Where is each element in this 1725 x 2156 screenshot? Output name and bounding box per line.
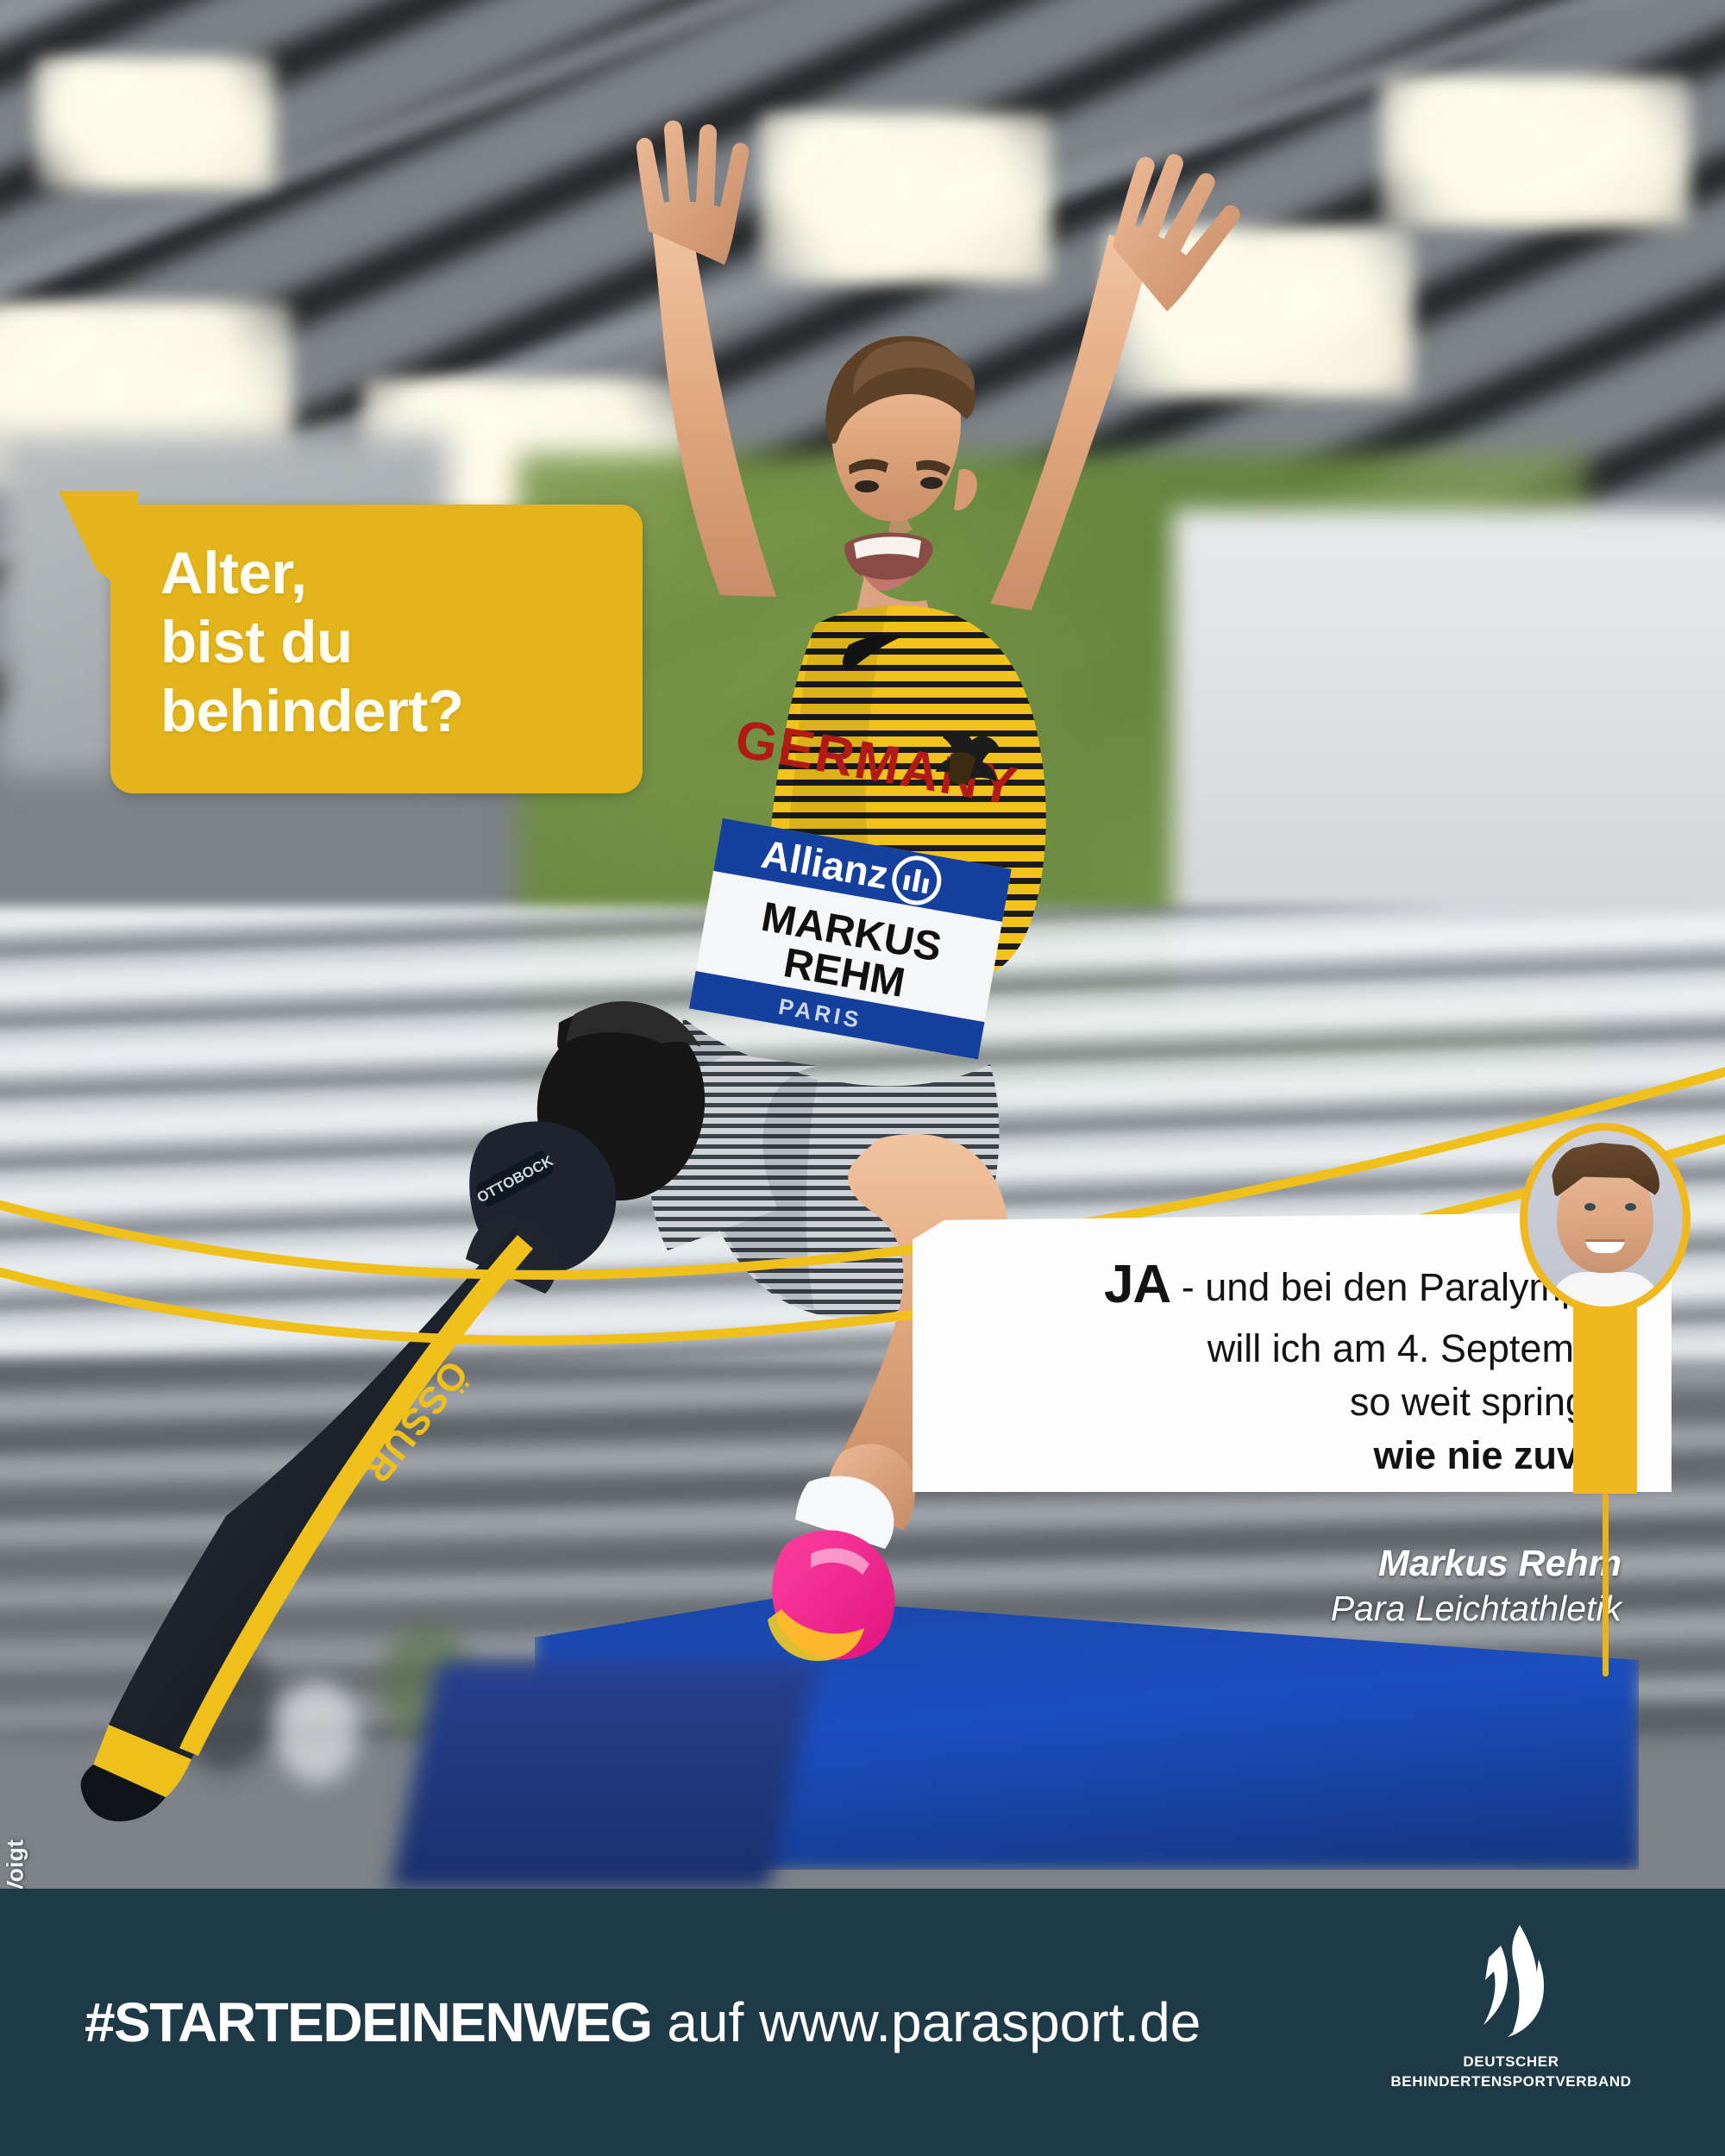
portrait-connector-line bbox=[1603, 1494, 1609, 1677]
quote-attribution: Markus Rehm Para Leichtathletik bbox=[1138, 1542, 1621, 1631]
athlete-portrait-avatar bbox=[1520, 1123, 1690, 1314]
athlete-left-arm bbox=[637, 121, 776, 597]
dbs-flame-icon bbox=[1459, 1923, 1563, 2044]
dbs-name-line1: DEUTSCHER bbox=[1390, 2053, 1631, 2072]
dbs-logo-text: DEUTSCHER BEHINDERTENSPORTVERBAND bbox=[1390, 2053, 1631, 2092]
quote-lead: JA bbox=[1104, 1255, 1170, 1314]
quote-line2: will ich am 4. September bbox=[1207, 1326, 1630, 1370]
bottom-bar: #STARTEDEINENWEG auf www.parasport.de DE… bbox=[0, 1889, 1725, 2156]
athlete-prosthetic-leg: OTTOBOCK ÖSSUR bbox=[81, 1001, 818, 1821]
dbs-logo: DEUTSCHER BEHINDERTENSPORTVERBAND bbox=[1399, 1923, 1623, 2122]
athlete-right-arm bbox=[990, 154, 1240, 611]
headline-speech-bubble: Alter, bist du behindert? bbox=[110, 505, 643, 793]
avatar-eye-left bbox=[1584, 1203, 1596, 1211]
campaign-poster: GERMANY Allianz MARKUS RE bbox=[0, 0, 1725, 2156]
campaign-hashtag: #STARTEDEINENWEG bbox=[85, 1991, 652, 2053]
photo-credit-text: Foto: ©Förderverein Para Leichtathletik … bbox=[3, 1319, 29, 1890]
headline-text: Alter, bist du behindert? bbox=[160, 539, 627, 746]
stadium-photo: GERMANY Allianz MARKUS RE bbox=[0, 0, 1725, 1889]
dbs-name-line2: BEHINDERTENSPORTVERBAND bbox=[1390, 2072, 1631, 2092]
campaign-url: auf www.parasport.de bbox=[652, 1991, 1201, 2053]
campaign-url-line: #STARTEDEINENWEG auf www.parasport.de bbox=[85, 1990, 1201, 2054]
avatar-shoulders bbox=[1550, 1272, 1660, 1312]
attribution-role: Para Leichtathletik bbox=[1138, 1587, 1621, 1631]
quote-text: JA - und bei den Paralympics will ich am… bbox=[949, 1248, 1630, 1482]
attribution-name: Markus Rehm bbox=[1138, 1542, 1621, 1587]
avatar-eye-right bbox=[1625, 1203, 1636, 1211]
photo-credit: Foto: ©Förderverein Para Leichtathletik … bbox=[0, 776, 32, 1889]
